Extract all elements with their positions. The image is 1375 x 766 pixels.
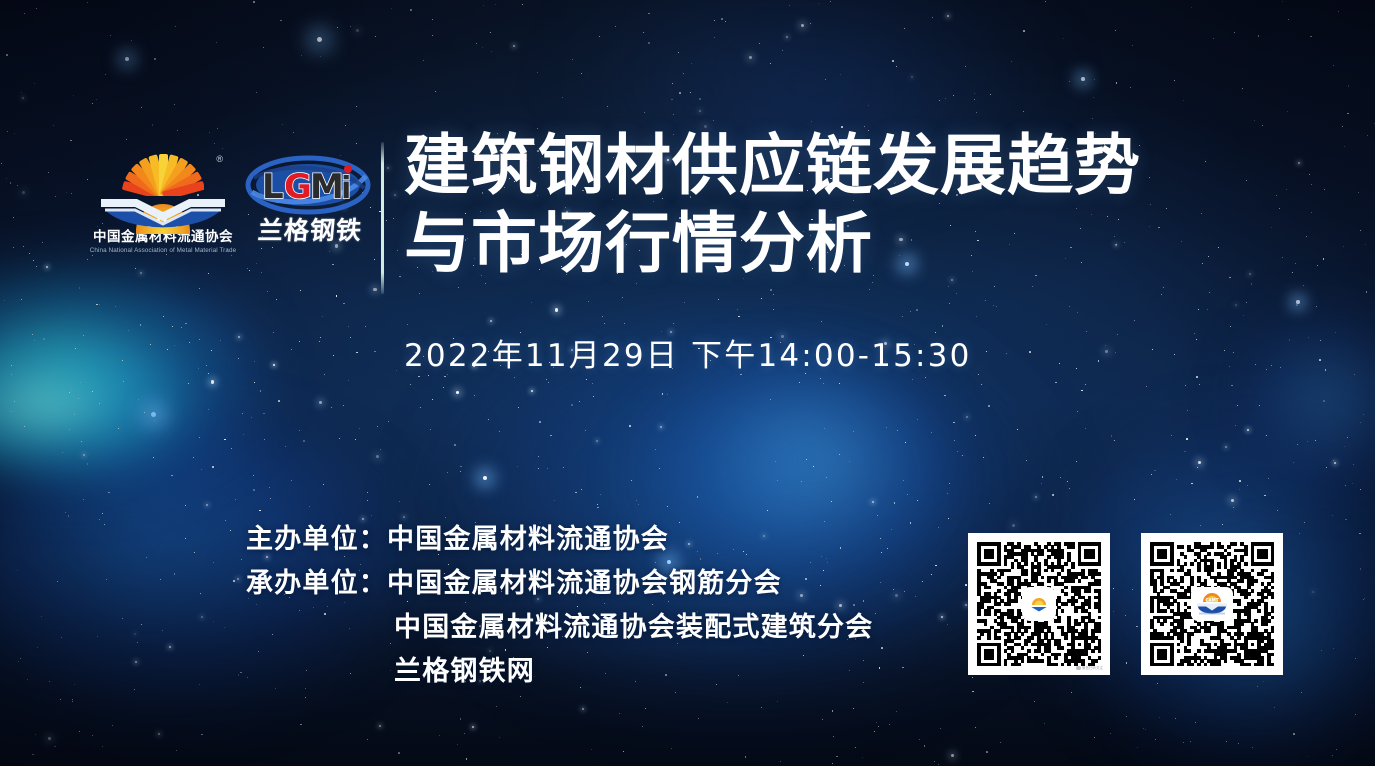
- organizer-row: 中国金属材料流通协会装配式建筑分会: [246, 606, 873, 650]
- title-divider: [381, 142, 384, 294]
- page-title: 建筑钢材供应链发展趋势 与市场行情分析: [404, 127, 1234, 283]
- event-datetime: 2022年11月29日 下午14:00-15:30: [404, 330, 972, 375]
- organizer-list: 主办单位：中国金属材料流通协会承办单位：中国金属材料流通协会钢筋分会中国金属材料…: [246, 518, 873, 694]
- page-title-line-2: 与市场行情分析: [404, 205, 1234, 283]
- organizer-row: 承办单位：中国金属材料流通协会钢筋分会: [246, 562, 873, 606]
- organizer-value: 中国金属材料流通协会钢筋分会: [387, 568, 782, 599]
- organizer-label: 承办单位：: [246, 568, 387, 599]
- organizer-value: 中国金属材料流通协会装配式建筑分会: [394, 612, 873, 643]
- svg-text:CAMT: CAMT: [1205, 597, 1218, 602]
- organizer-value: 中国金属材料流通协会: [387, 524, 669, 555]
- camt-emblem-icon: CAMT ®: [99, 150, 227, 226]
- organizer-row: 兰格钢铁网: [246, 650, 873, 694]
- page-title-line-1: 建筑钢材供应链发展趋势: [404, 127, 1234, 205]
- svg-text:i: i: [341, 171, 351, 206]
- organizer-row: 主办单位：中国金属材料流通协会: [246, 518, 873, 562]
- camt-sun-wave-icon: [1024, 589, 1054, 619]
- logo-group: CAMT ® 中国金属材料流通协会 China National Associa…: [88, 148, 378, 268]
- poster-header: CAMT ® 中国金属材料流通协会 China National Associa…: [0, 0, 1375, 320]
- camt-name-en: China National Association of Metal Mate…: [87, 247, 240, 254]
- svg-text:G: G: [284, 167, 311, 207]
- qr-code-left[interactable]: 微信扫码关注: [968, 533, 1110, 675]
- organizer-value: 兰格钢铁网: [394, 656, 535, 687]
- poster-canvas: CAMT ® 中国金属材料流通协会 China National Associa…: [0, 0, 1375, 766]
- lgmi-badge-icon: L G M i: [244, 154, 372, 216]
- svg-text:M: M: [310, 167, 343, 207]
- svg-text:L: L: [262, 167, 283, 207]
- wechat-glyph-icon: [1076, 666, 1081, 670]
- camt-registered-mark: ®: [216, 154, 223, 164]
- camt-logo: CAMT ® 中国金属材料流通协会 China National Associa…: [88, 148, 238, 266]
- organizer-label: 主办单位：: [246, 524, 387, 555]
- camt-emblem-icon: CAMT: [1193, 589, 1231, 619]
- qr-code-right[interactable]: CAMT: [1141, 533, 1283, 675]
- lgmi-logo: L G M i 兰格钢铁: [244, 154, 376, 266]
- camt-wing-icon: [99, 190, 227, 230]
- qr-code-right-canvas: CAMT: [1141, 533, 1283, 675]
- qr-watermark: 微信扫码关注: [1076, 666, 1103, 670]
- lgmi-name-cn: 兰格钢铁: [243, 218, 377, 243]
- qr-code-left-canvas: 微信扫码关注: [968, 533, 1110, 675]
